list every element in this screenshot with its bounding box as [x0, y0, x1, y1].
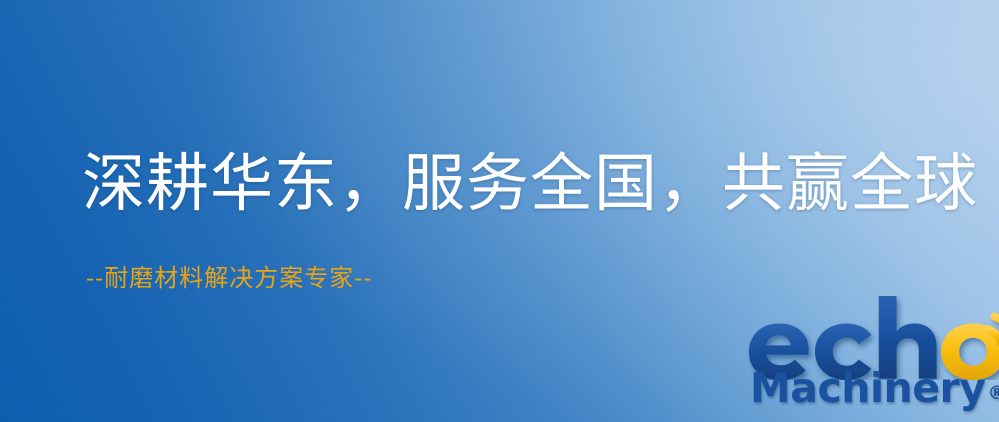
company-logo[interactable]: Machinery ®	[744, 296, 999, 422]
banner-headline: 深耕华东，服务全国，共赢全球	[82, 152, 978, 215]
hero-banner: 深耕华东，服务全国，共赢全球 --耐磨材料解决方案专家--	[0, 0, 999, 422]
logo-wordmark: Machinery ®	[750, 368, 999, 422]
banner-subtitle: --耐磨材料解决方案专家--	[86, 266, 372, 290]
banner-content: 深耕华东，服务全国，共赢全球 --耐磨材料解决方案专家--	[0, 0, 999, 422]
registered-trademark-icon: ®	[987, 384, 999, 403]
logo-machinery-text: Machinery	[750, 368, 985, 409]
